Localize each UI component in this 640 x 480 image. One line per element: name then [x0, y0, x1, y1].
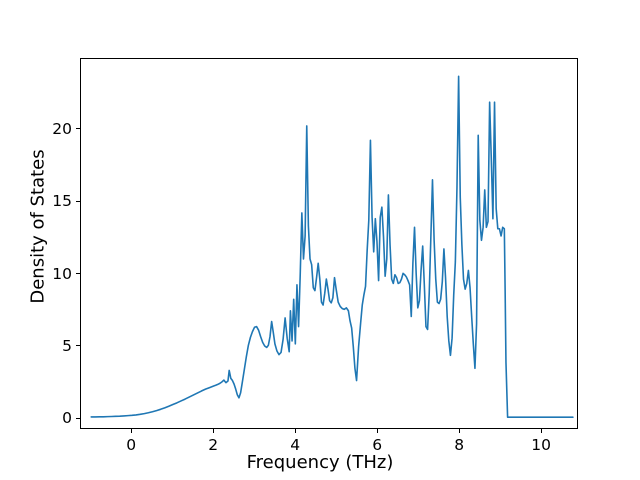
y-tick-mark [76, 273, 80, 274]
dos-line-series [81, 59, 577, 428]
y-tick-label: 0 [28, 409, 72, 427]
x-tick-mark [213, 429, 214, 433]
x-tick-mark [541, 429, 542, 433]
y-tick-mark [76, 345, 80, 346]
x-tick-mark [459, 429, 460, 433]
plot-area [80, 58, 578, 429]
x-axis-label: Frequency (THz) [0, 452, 640, 473]
x-tick-mark [295, 429, 296, 433]
y-tick-mark [76, 201, 80, 202]
y-tick-mark [76, 418, 80, 419]
y-axis-label: Density of States [28, 77, 49, 377]
chart-figure: 0246810 05101520 Frequency (THz) Density… [0, 0, 640, 480]
x-tick-mark [131, 429, 132, 433]
y-tick-mark [76, 128, 80, 129]
x-tick-mark [377, 429, 378, 433]
